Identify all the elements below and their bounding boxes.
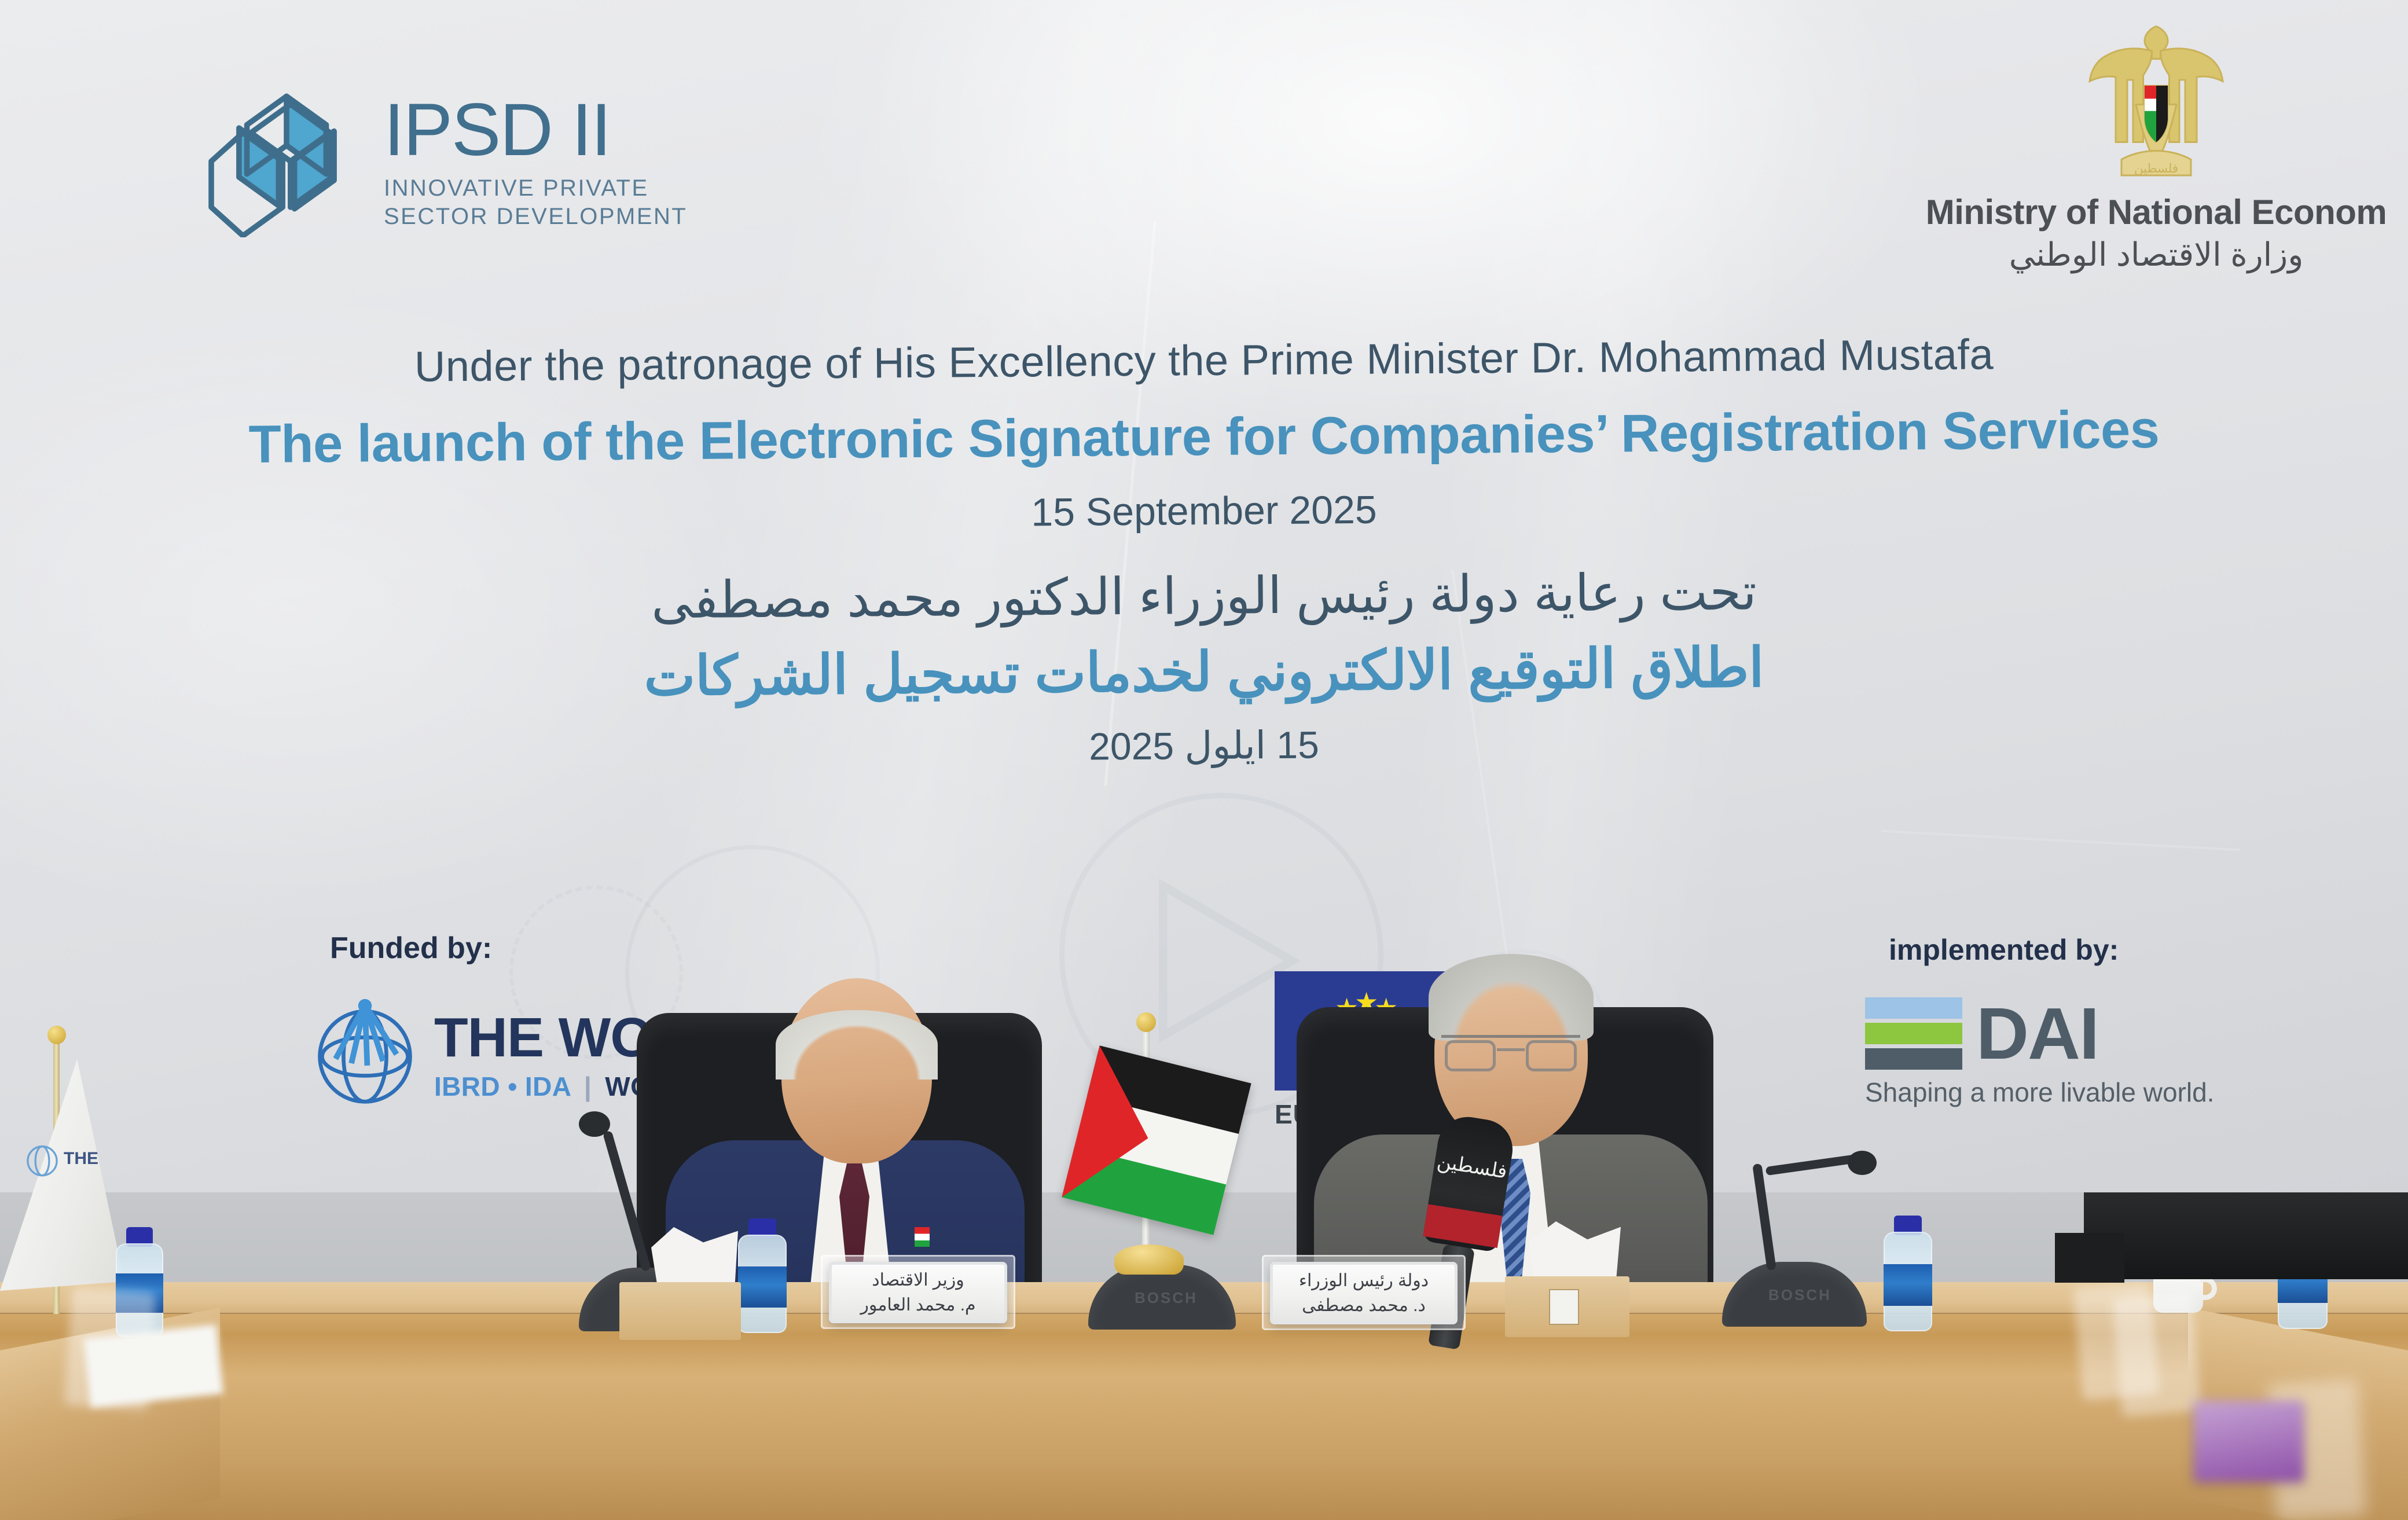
event-date-ar: 15 ايلول 2025 xyxy=(0,714,2408,778)
flag-finial-icon xyxy=(1136,1012,1156,1032)
funded-by-label: Funded by: xyxy=(330,931,492,965)
dai-bars-icon xyxy=(1865,997,1962,1070)
lapel-pin-icon xyxy=(915,1227,930,1247)
dai-logo: DAI Shaping a more livable world. xyxy=(1865,997,2214,1108)
event-title-ar: اطلاق التوقيع الالكتروني لخدمات تسجيل ال… xyxy=(0,632,2408,714)
microphone-capsule xyxy=(579,1111,610,1137)
ipsd-subtitle-line2: SECTOR DEVELOPMENT xyxy=(384,203,687,231)
nameplate-name: م. محمد العامور xyxy=(860,1293,975,1318)
conference-table-front xyxy=(0,1314,2408,1520)
water-bottle[interactable] xyxy=(1884,1216,1932,1331)
hair xyxy=(776,1010,938,1080)
world-bank-globe-icon xyxy=(23,1140,61,1178)
ipsd-subtitle-line1: INNOVATIVE PRIVATE xyxy=(384,174,687,203)
ministry-name-ar: وزارة الاقتصاد الوطني xyxy=(1902,236,2408,274)
nameplate-prime-minister: دولة رئيس الوزراء د. محمد مصطفى xyxy=(1270,1262,1458,1324)
wooden-tissue-holder xyxy=(1505,1276,1629,1337)
wooden-tissue-holder xyxy=(619,1282,741,1340)
world-bank-flag-text: THE xyxy=(64,1149,98,1169)
ipsd-title: IPSD II xyxy=(384,93,687,167)
palestine-eagle-emblem-icon: فلسطين xyxy=(2084,16,2229,190)
ipsd-logo: IPSD II INNOVATIVE PRIVATE SECTOR DEVELO… xyxy=(205,87,687,237)
ministry-name-en: Ministry of National Econom xyxy=(1902,192,2408,232)
microphone-capsule xyxy=(1848,1151,1877,1175)
holder-logo-icon xyxy=(1549,1289,1579,1325)
nameplate-title: دولة رئيس الوزراء xyxy=(1299,1268,1429,1294)
banner-headline-block: Under the patronage of His Excellency th… xyxy=(0,336,2408,768)
tissue-box xyxy=(2194,1401,2304,1482)
flag-base xyxy=(1114,1244,1184,1275)
nameplate-holder xyxy=(2114,1294,2200,1416)
event-date-en: 15 September 2025 xyxy=(0,479,2408,544)
water-bottle[interactable] xyxy=(738,1218,787,1333)
ministry-logo: فلسطين Ministry of National Econom وزارة… xyxy=(1902,16,2408,274)
nameplate-minister-of-economy: وزير الاقتصاد م. محمد العامور xyxy=(829,1262,1007,1323)
mic-brand-label: BOSCH xyxy=(1768,1286,1831,1304)
av-equipment-rack xyxy=(2055,1233,2124,1283)
world-bank-ibrd-ida: IBRD • IDA xyxy=(434,1071,571,1102)
document-papers xyxy=(83,1324,223,1407)
implemented-by-label: implemented by: xyxy=(1889,933,2119,967)
palestine-table-flag xyxy=(1074,1051,1242,1294)
event-title-en: The launch of the Electronic Signature f… xyxy=(0,398,2408,478)
world-bank-globe-icon xyxy=(309,996,421,1108)
nameplate-title: وزير الاقتصاد xyxy=(872,1268,964,1293)
three-cubes-isometric-icon xyxy=(205,87,368,237)
av-equipment-rack xyxy=(2084,1192,2408,1279)
eyeglasses-icon xyxy=(1441,1035,1580,1071)
nameplate-name: د. محمد مصطفى xyxy=(1302,1293,1426,1319)
flag-finial-icon xyxy=(47,1026,66,1044)
svg-text:فلسطين: فلسطين xyxy=(2134,161,2178,176)
patronage-line-en: Under the patronage of His Excellency th… xyxy=(0,326,2408,395)
dai-tagline: Shaping a more livable world. xyxy=(1865,1077,2214,1108)
patronage-line-ar: تحت رعاية دولة رئيس الوزراء الدكتور محمد… xyxy=(0,557,2408,636)
dai-name: DAI xyxy=(1976,1001,2098,1066)
photo-scene: IPSD II INNOVATIVE PRIVATE SECTOR DEVELO… xyxy=(0,0,2408,1520)
hair xyxy=(1429,954,1594,1041)
